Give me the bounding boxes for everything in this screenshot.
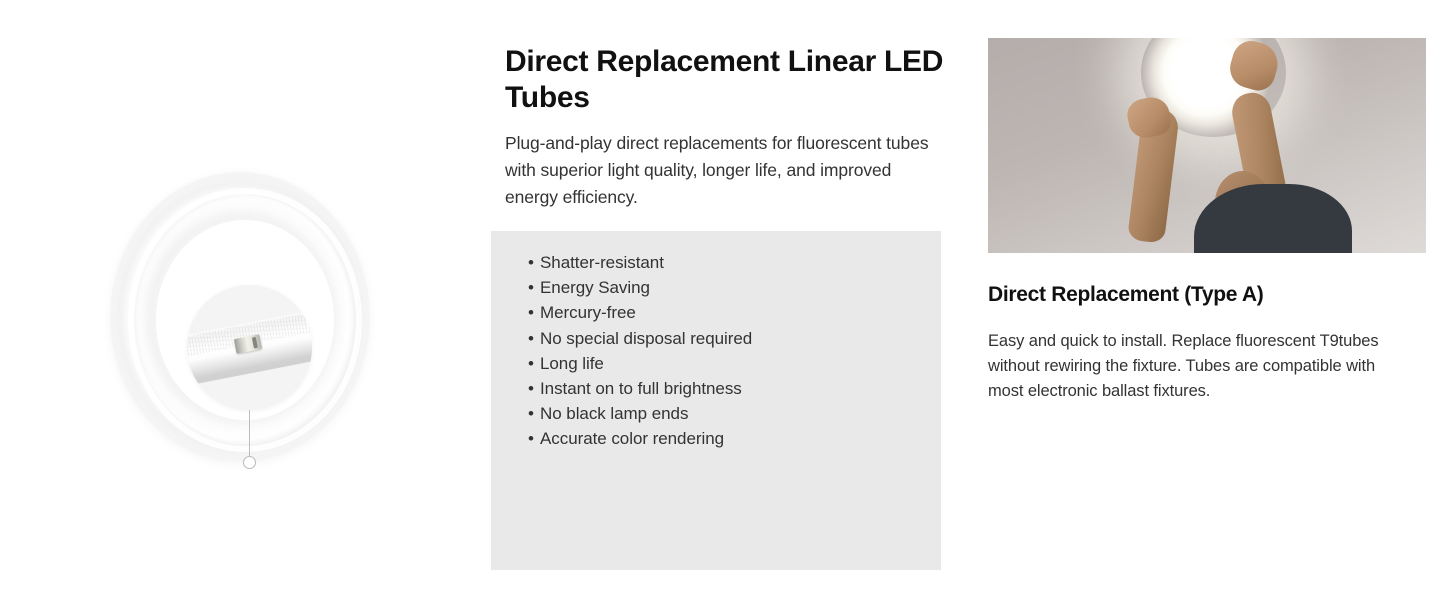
list-item: • Accurate color rendering (491, 426, 941, 451)
bullet-icon: • (528, 426, 534, 451)
product-image-circular-led-tube (100, 160, 390, 480)
callout-leader-line (249, 410, 250, 462)
list-item-label: Energy Saving (540, 278, 650, 297)
list-item-label: Instant on to full brightness (540, 379, 742, 398)
list-item-label: No special disposal required (540, 329, 752, 348)
list-item-label: Long life (540, 354, 604, 373)
list-item-label: Shatter-resistant (540, 253, 664, 272)
list-item: • Shatter-resistant (491, 250, 941, 275)
list-item: • No black lamp ends (491, 401, 941, 426)
list-item: • Mercury-free (491, 300, 941, 325)
middle-column: Direct Replacement Linear LED Tubes Plug… (505, 44, 951, 211)
list-item-label: Mercury-free (540, 303, 636, 322)
bullet-icon: • (528, 300, 534, 325)
page-title: Direct Replacement Linear LED Tubes (505, 44, 951, 116)
bullet-icon: • (528, 376, 534, 401)
features-panel: • Shatter-resistant • Energy Saving • Me… (491, 231, 941, 570)
section-paragraph: Easy and quick to install. Replace fluor… (988, 329, 1392, 404)
list-item-label: No black lamp ends (540, 404, 688, 423)
bullet-icon: • (528, 351, 534, 376)
features-list: • Shatter-resistant • Energy Saving • Me… (491, 231, 941, 452)
bullet-icon: • (528, 326, 534, 351)
intro-paragraph: Plug-and-play direct replacements for fl… (505, 130, 947, 211)
list-item-label: Accurate color rendering (540, 429, 724, 448)
magnifier-callout-icon (187, 285, 312, 410)
bullet-icon: • (528, 401, 534, 426)
list-item: • Long life (491, 351, 941, 376)
list-item: • Instant on to full brightness (491, 376, 941, 401)
right-column: Direct Replacement (Type A) Easy and qui… (988, 38, 1426, 404)
bullet-icon: • (528, 250, 534, 275)
callout-marker-ring-icon (243, 456, 256, 469)
list-item: • No special disposal required (491, 326, 941, 351)
list-item: • Energy Saving (491, 275, 941, 300)
section-title-direct-replacement: Direct Replacement (Type A) (988, 282, 1426, 308)
installation-photo (988, 38, 1426, 253)
bullet-icon: • (528, 275, 534, 300)
